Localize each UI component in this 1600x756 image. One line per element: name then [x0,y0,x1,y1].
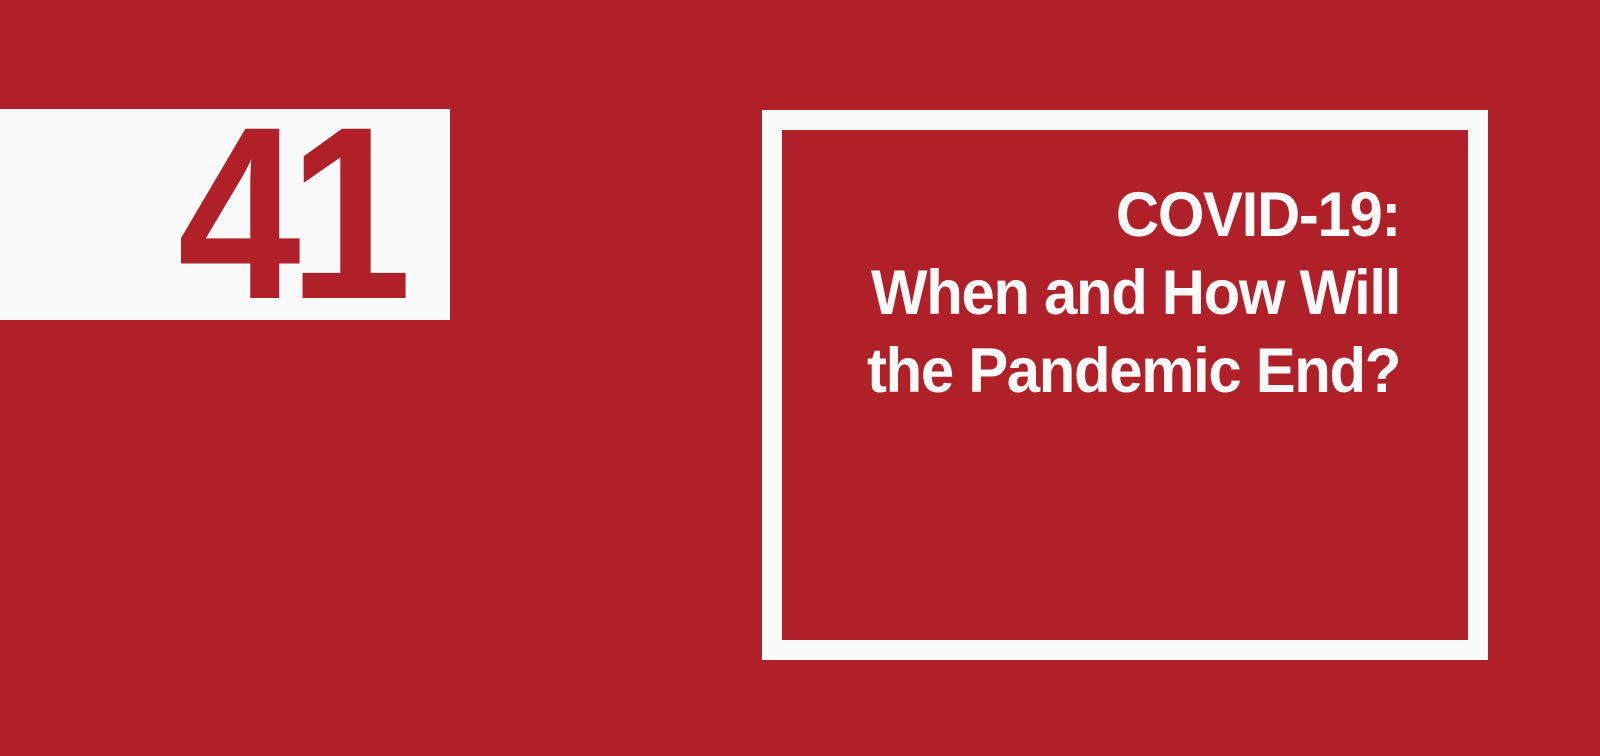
slide-number-plate: 41 [0,109,450,320]
title-line-2: When and How Will [867,254,1400,332]
title-line-1: COVID-19: [867,176,1400,254]
slide-title: COVID-19: When and How Will the Pandemic… [839,176,1400,410]
title-line-3: the Pandemic End? [867,332,1400,410]
slide-canvas: 41 COVID-19: When and How Will the Pande… [0,0,1600,756]
title-frame: COVID-19: When and How Will the Pandemic… [762,110,1488,660]
slide-number-text: 41 [178,128,400,300]
